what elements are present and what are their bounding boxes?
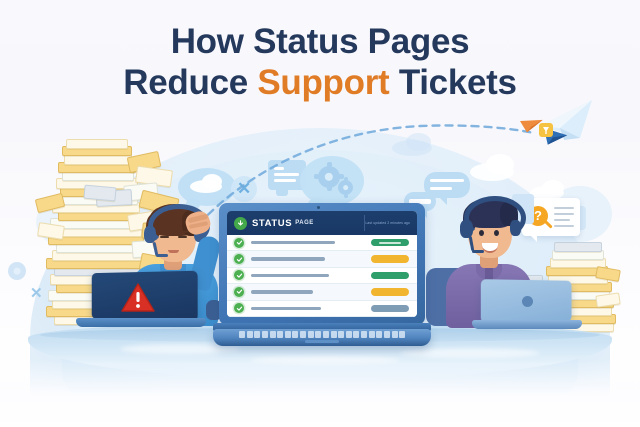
check-circle-icon	[234, 303, 244, 313]
status-page-header: STATUS PAGE Last updated 2 minutes ago	[227, 211, 417, 235]
keyboard-key[interactable]	[285, 331, 291, 338]
keyboard-key[interactable]	[323, 331, 329, 338]
keyboard-key[interactable]	[338, 331, 344, 338]
keyboard-key[interactable]	[331, 331, 337, 338]
keyboard-key[interactable]	[254, 331, 260, 338]
status-page-screen[interactable]: STATUS PAGE Last updated 2 minutes ago	[227, 211, 417, 317]
keyboard-key[interactable]	[308, 331, 314, 338]
keyboard-key[interactable]	[277, 331, 283, 338]
notification-badge-icon	[539, 123, 553, 137]
main-laptop: STATUS PAGE Last updated 2 minutes ago	[213, 203, 431, 348]
keyboard-key[interactable]	[270, 331, 276, 338]
check-circle-icon	[234, 254, 244, 264]
bottom-fade	[0, 360, 640, 427]
laptop-keyboard[interactable]	[239, 331, 405, 338]
status-row[interactable]	[227, 284, 417, 300]
desk-reflection	[400, 348, 540, 358]
magnifier-handle	[544, 220, 552, 228]
status-badge[interactable]	[371, 288, 409, 296]
status-badge-bar	[379, 242, 401, 244]
keyboard-key[interactable]	[399, 331, 405, 338]
status-row-label	[251, 241, 335, 244]
title-plain-b: Tickets	[389, 63, 516, 102]
laptop-trackpad[interactable]	[305, 340, 339, 343]
status-row[interactable]	[227, 235, 417, 251]
status-row-list	[227, 235, 417, 317]
infographic-canvas: ✕ ✕	[0, 0, 640, 427]
webcam-icon	[317, 206, 320, 209]
download-circle-icon	[234, 217, 247, 230]
header-divider	[364, 215, 365, 231]
status-page-meta: Last updated 2 minutes ago	[365, 221, 410, 225]
status-row-label	[251, 290, 313, 293]
keyboard-key[interactable]	[239, 331, 245, 338]
title-line-2: Reduce Support Tickets	[0, 63, 640, 104]
keyboard-key[interactable]	[392, 331, 398, 338]
last-updated-text: Last updated 2 minutes ago	[365, 221, 410, 225]
keyboard-key[interactable]	[262, 331, 268, 338]
keyboard-key[interactable]	[353, 331, 359, 338]
status-row-label	[251, 307, 321, 310]
page-title: How Status Pages Reduce Support Tickets	[0, 22, 640, 103]
status-row-label	[251, 274, 329, 277]
keyboard-key[interactable]	[247, 331, 253, 338]
title-accent: Support	[257, 63, 389, 102]
status-page-title-sub: PAGE	[295, 220, 314, 226]
status-row[interactable]	[227, 268, 417, 284]
right-laptop	[472, 280, 582, 330]
status-row[interactable]	[227, 301, 417, 317]
status-badge[interactable]	[371, 239, 409, 247]
keyboard-key[interactable]	[369, 331, 375, 338]
status-badge[interactable]	[371, 255, 409, 263]
check-circle-icon	[234, 287, 244, 297]
laptop-logo	[522, 296, 533, 307]
check-circle-icon	[234, 270, 244, 280]
keyboard-key[interactable]	[315, 331, 321, 338]
status-row-label	[251, 257, 325, 260]
status-badge[interactable]	[371, 272, 409, 280]
status-row[interactable]	[227, 251, 417, 267]
keyboard-key[interactable]	[292, 331, 298, 338]
keyboard-key[interactable]	[376, 331, 382, 338]
keyboard-key[interactable]	[384, 331, 390, 338]
title-line-1: How Status Pages	[0, 22, 640, 63]
keyboard-key[interactable]	[361, 331, 367, 338]
keyboard-key[interactable]	[346, 331, 352, 338]
warning-triangle-icon	[120, 282, 156, 314]
check-circle-icon	[234, 238, 244, 248]
keyboard-key[interactable]	[300, 331, 306, 338]
status-badge[interactable]	[371, 305, 409, 313]
title-plain-a: Reduce	[123, 63, 257, 102]
status-page-title: STATUS	[252, 218, 292, 229]
left-laptop	[76, 272, 206, 330]
